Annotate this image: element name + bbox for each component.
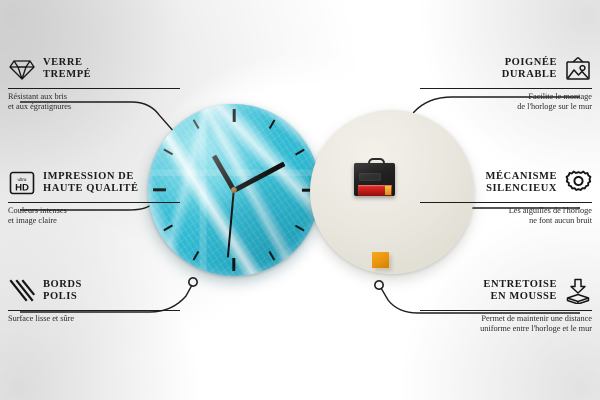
battery xyxy=(358,185,392,196)
svg-text:HD: HD xyxy=(15,183,29,194)
feature-divider xyxy=(420,310,592,311)
feature-header: ENTRETOISE EN MOUSSE xyxy=(420,274,592,308)
diamond-icon xyxy=(8,55,36,83)
feature-description: Résistant aux bris et aux égratignures xyxy=(8,92,180,112)
feature-divider xyxy=(420,202,592,203)
feature-verre-trempe: VERRE TREMPÉ Résistant aux bris et aux é… xyxy=(8,52,180,112)
gear-icon xyxy=(564,169,592,197)
feature-header: BORDS POLIS xyxy=(8,274,180,308)
foam-spacer xyxy=(372,252,389,268)
svg-text:ultra: ultra xyxy=(18,177,27,182)
infographic-canvas: VERRE TREMPÉ Résistant aux bris et aux é… xyxy=(0,0,600,400)
ultra-hd-icon: ultra HD xyxy=(8,169,36,197)
feature-title: POIGNÉE DURABLE xyxy=(502,57,557,82)
feature-bords-polis: BORDS POLIS Surface lisse et sûre xyxy=(8,274,180,324)
connector-node-entretoise xyxy=(375,281,383,289)
feature-impression-haute-qualite: ultra HD IMPRESSION DE HAUTE QUALITÉ Cou… xyxy=(8,166,180,226)
foam-spacer-icon xyxy=(564,277,592,305)
feature-description: Les aiguilles de l'horloge ne font aucun… xyxy=(420,206,592,226)
feature-header: POIGNÉE DURABLE xyxy=(420,52,592,86)
feature-header: ultra HD IMPRESSION DE HAUTE QUALITÉ xyxy=(8,166,180,200)
feature-description: Surface lisse et sûre xyxy=(8,314,180,324)
feature-description: Facilite le montage de l'horloge sur le … xyxy=(420,92,592,112)
mechanism-detail xyxy=(359,173,381,181)
picture-hanger-icon xyxy=(564,55,592,83)
feature-description: Permet de maintenir une distance uniform… xyxy=(420,314,592,334)
feature-divider xyxy=(420,88,592,89)
feature-divider xyxy=(8,310,180,311)
feature-title: ENTRETOISE EN MOUSSE xyxy=(483,279,557,304)
feature-title: IMPRESSION DE HAUTE QUALITÉ xyxy=(43,171,139,196)
mechanism-body xyxy=(354,163,395,196)
feature-poignee-durable: POIGNÉE DURABLE Facilite le montage de l… xyxy=(420,52,592,112)
feature-divider xyxy=(8,88,180,89)
feature-entretoise-en-mousse: ENTRETOISE EN MOUSSE Permet de maintenir… xyxy=(420,274,592,334)
feature-title: MÉCANISME SILENCIEUX xyxy=(486,171,557,196)
feature-mecanisme-silencieux: MÉCANISME SILENCIEUX Les aiguilles de l'… xyxy=(420,166,592,226)
feature-title: BORDS POLIS xyxy=(43,279,82,304)
polished-edges-icon xyxy=(8,277,36,305)
feature-divider xyxy=(8,202,180,203)
feature-header: MÉCANISME SILENCIEUX xyxy=(420,166,592,200)
connector-node-bords-polis xyxy=(189,278,197,286)
feature-header: VERRE TREMPÉ xyxy=(8,52,180,86)
feature-description: Couleurs intenses et image claire xyxy=(8,206,180,226)
feature-title: VERRE TREMPÉ xyxy=(43,57,91,82)
clock-mechanism xyxy=(354,158,395,196)
